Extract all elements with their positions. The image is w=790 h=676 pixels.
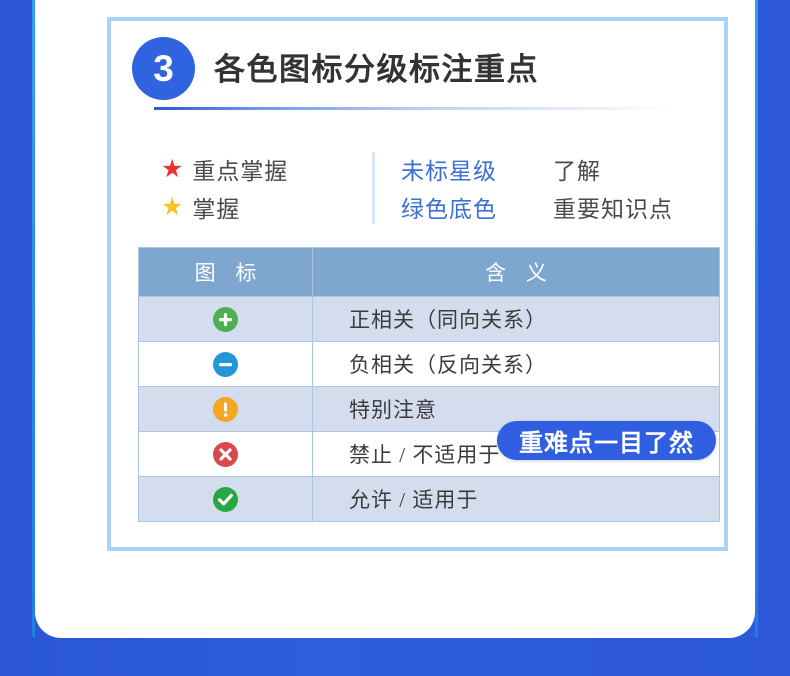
column-header-icon: 图 标 xyxy=(139,248,313,297)
page-title: 各色图标分级标注重点 xyxy=(214,44,539,89)
cell-icon xyxy=(139,432,313,477)
exclamation-circle-icon xyxy=(213,397,238,422)
minus-circle-icon xyxy=(213,352,238,377)
legend-divider xyxy=(372,152,375,224)
table-row: 负相关（反向关系） xyxy=(139,342,720,387)
star-icon: ★ xyxy=(161,195,183,220)
legend-column-stars: ★ 重点掌握 ★ 掌握 xyxy=(161,150,288,226)
table-row: 正相关（同向关系） xyxy=(139,297,720,342)
check-circle-icon xyxy=(213,487,238,512)
legend-item-label: 未标星级 xyxy=(401,152,497,186)
section-header: 3 各色图标分级标注重点 xyxy=(132,37,707,115)
cross-circle-icon xyxy=(213,442,238,467)
column-header-meaning: 含 义 xyxy=(313,248,720,297)
status-badge: 重难点一目了然 xyxy=(497,421,716,460)
legend-item-key: 绿色底色 xyxy=(401,188,497,226)
cell-meaning: 允许 / 适用于 xyxy=(313,477,720,522)
legend-item-key: 未标星级 xyxy=(401,150,497,188)
content-card: 3 各色图标分级标注重点 ★ 重点掌握 ★ 掌握 未标星级 xyxy=(35,0,755,638)
legend-item-label: 重点掌握 xyxy=(192,152,288,186)
legend-item-label: 掌握 xyxy=(192,190,240,224)
legend-item-value: 了解 xyxy=(553,150,673,188)
title-underline xyxy=(154,107,720,110)
plus-circle-icon xyxy=(213,307,238,332)
legend-column-marks: 未标星级 绿色底色 xyxy=(401,150,497,226)
page-background: 3 各色图标分级标注重点 ★ 重点掌握 ★ 掌握 未标星级 xyxy=(0,0,790,676)
legend-column-meanings: 了解 重要知识点 xyxy=(553,150,673,226)
icon-meaning-table: 图 标 含 义 正相关（同向关系） xyxy=(138,247,719,522)
cell-meaning: 正相关（同向关系） xyxy=(313,297,720,342)
legend-item-label: 重要知识点 xyxy=(553,190,673,224)
legend-item-key: ★ 重点掌握 xyxy=(161,150,288,188)
cell-icon xyxy=(139,387,313,432)
star-icon: ★ xyxy=(161,157,183,182)
cell-icon xyxy=(139,297,313,342)
legend-item-value: 重要知识点 xyxy=(553,188,673,226)
legend: ★ 重点掌握 ★ 掌握 未标星级 绿色底色 了解 xyxy=(161,150,721,226)
cell-icon xyxy=(139,477,313,522)
legend-item-label: 了解 xyxy=(553,152,601,186)
step-number-badge: 3 xyxy=(132,37,195,100)
legend-item-key: ★ 掌握 xyxy=(161,188,288,226)
legend-item-label: 绿色底色 xyxy=(401,190,497,224)
table-header-row: 图 标 含 义 xyxy=(139,248,720,297)
cell-meaning: 负相关（反向关系） xyxy=(313,342,720,387)
table-row: 允许 / 适用于 xyxy=(139,477,720,522)
cell-icon xyxy=(139,342,313,387)
